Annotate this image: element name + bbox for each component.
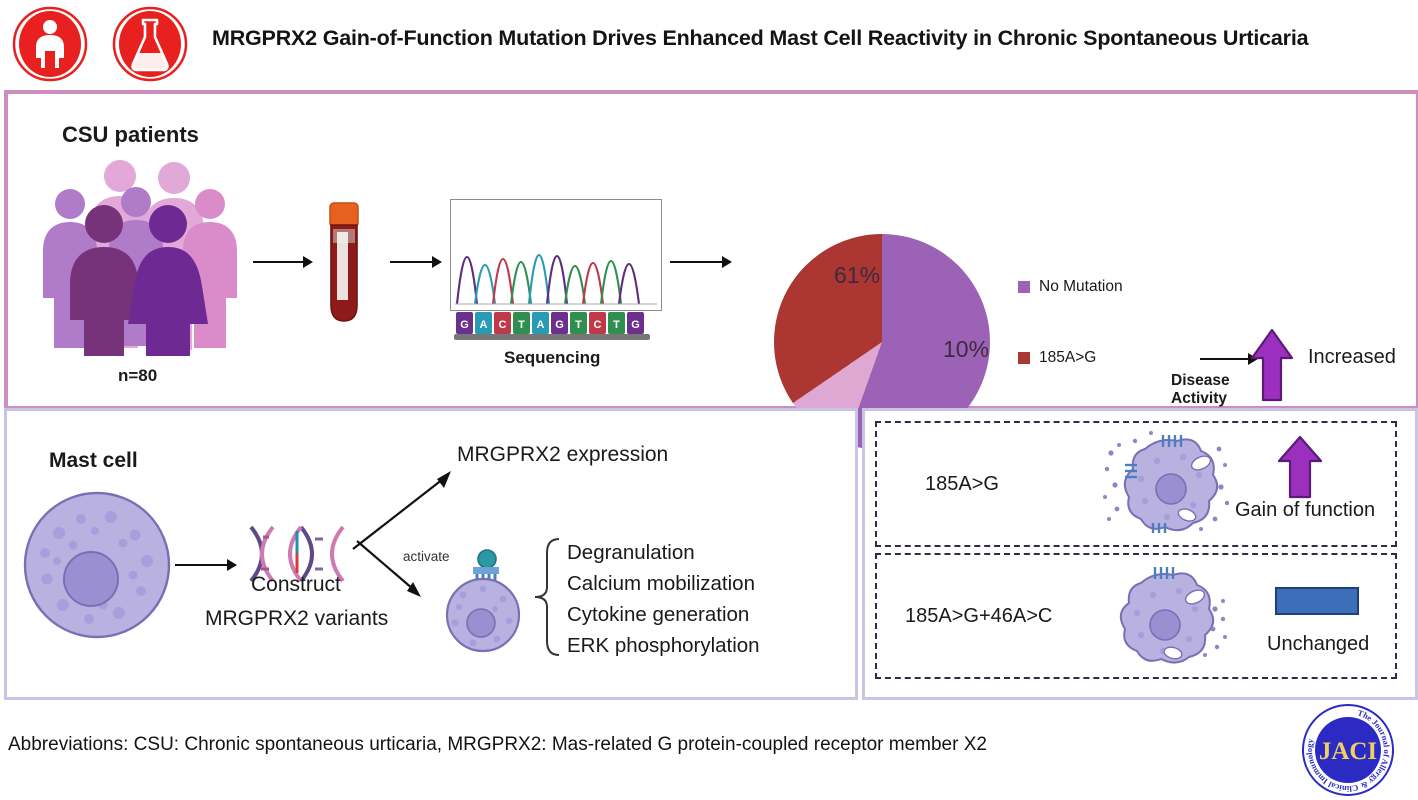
mast-cell-experiment-panel: Mast cell Construct MRGPRX2 va (4, 408, 858, 700)
result-box-185ag: 185A>G (875, 421, 1397, 547)
mast-cell-icon (19, 487, 175, 643)
degranulating-mast-cell-icon (1101, 431, 1229, 537)
result-outcome-label: Unchanged (1267, 633, 1369, 656)
legend-item-185ag: 185A>G (1018, 349, 1096, 367)
readout-item: Degranulation (567, 541, 695, 565)
patient-cohort-panel: CSU patients n=80 (4, 90, 1418, 410)
sequence-bases: G A C T A G T C T G (454, 310, 654, 346)
svg-text:G: G (631, 319, 640, 331)
variant-label: 185A>G+46A>C (905, 605, 1052, 628)
svg-text:C: C (499, 319, 507, 331)
sequencing-label: Sequencing (504, 348, 600, 368)
svg-text:T: T (613, 319, 620, 331)
outcome-increased-label: Increased (1308, 346, 1396, 369)
result-box-185ag-46ac: 185A>G+46A>C Unchanged (875, 553, 1397, 679)
pie-slice-label: 61% (834, 262, 880, 289)
abbreviations-note: Abbreviations: CSU: Chronic spontaneous … (8, 734, 987, 756)
arrow-cell-to-construct (175, 559, 237, 571)
brace-icon (533, 537, 563, 657)
header: MRGPRX2 Gain-of-Function Mutation Drives… (0, 0, 1418, 88)
csu-patients-title: CSU patients (62, 122, 199, 148)
flat-bar-icon (1275, 587, 1359, 615)
jaci-journal-logo: The Journal of Allergy & Clinical Immuno… (1300, 702, 1396, 798)
svg-text:C: C (594, 319, 602, 331)
patient-group-icon (28, 152, 258, 362)
activated-mast-cell-icon (435, 543, 531, 655)
construct-line-2: MRGPRX2 variants (205, 607, 388, 631)
legend-swatch (1018, 281, 1030, 293)
result-outcome-label: Gain of function (1235, 499, 1375, 522)
page-title: MRGPRX2 Gain-of-Function Mutation Drives… (212, 26, 1412, 51)
cohort-size-label: n=80 (118, 366, 157, 386)
legend-label: 185A>G (1039, 349, 1096, 367)
legend-swatch (1018, 352, 1030, 364)
variant-results-panel: 185A>G (862, 408, 1418, 700)
arrow-tube-to-sequencing (390, 256, 442, 268)
disease-activity-label: Disease Activity (1171, 372, 1251, 409)
chromatogram-box (450, 199, 662, 311)
svg-text:JACI: JACI (1319, 738, 1377, 765)
readout-item: ERK phosphorylation (567, 634, 760, 658)
up-arrow-icon (1250, 328, 1294, 402)
mast-cell-title: Mast cell (49, 449, 138, 473)
svg-text:G: G (555, 319, 564, 331)
svg-text:G: G (460, 319, 469, 331)
blood-tube-icon (304, 199, 384, 329)
readout-item: Cytokine generation (567, 603, 749, 627)
construct-line-1: Construct (251, 573, 341, 597)
pie-slice-label: 10% (943, 336, 989, 363)
person-icon (12, 6, 88, 82)
svg-text:A: A (480, 319, 488, 331)
arrow-to-activation (355, 537, 427, 605)
legend-item-no-mutation: No Mutation (1018, 278, 1123, 296)
legend-label: No Mutation (1039, 278, 1123, 296)
svg-text:A: A (537, 319, 545, 331)
svg-text:T: T (575, 319, 582, 331)
readout-item: Calcium mobilization (567, 572, 755, 596)
variant-label: 185A>G (925, 473, 999, 496)
arrow-sequencing-to-pie (670, 256, 732, 268)
up-arrow-icon (1277, 435, 1323, 499)
flask-icon (112, 6, 188, 82)
resting-mast-cell-icon (1101, 563, 1229, 669)
mrgprx2-expression-label: MRGPRX2 expression (457, 443, 668, 467)
svg-text:T: T (518, 319, 525, 331)
